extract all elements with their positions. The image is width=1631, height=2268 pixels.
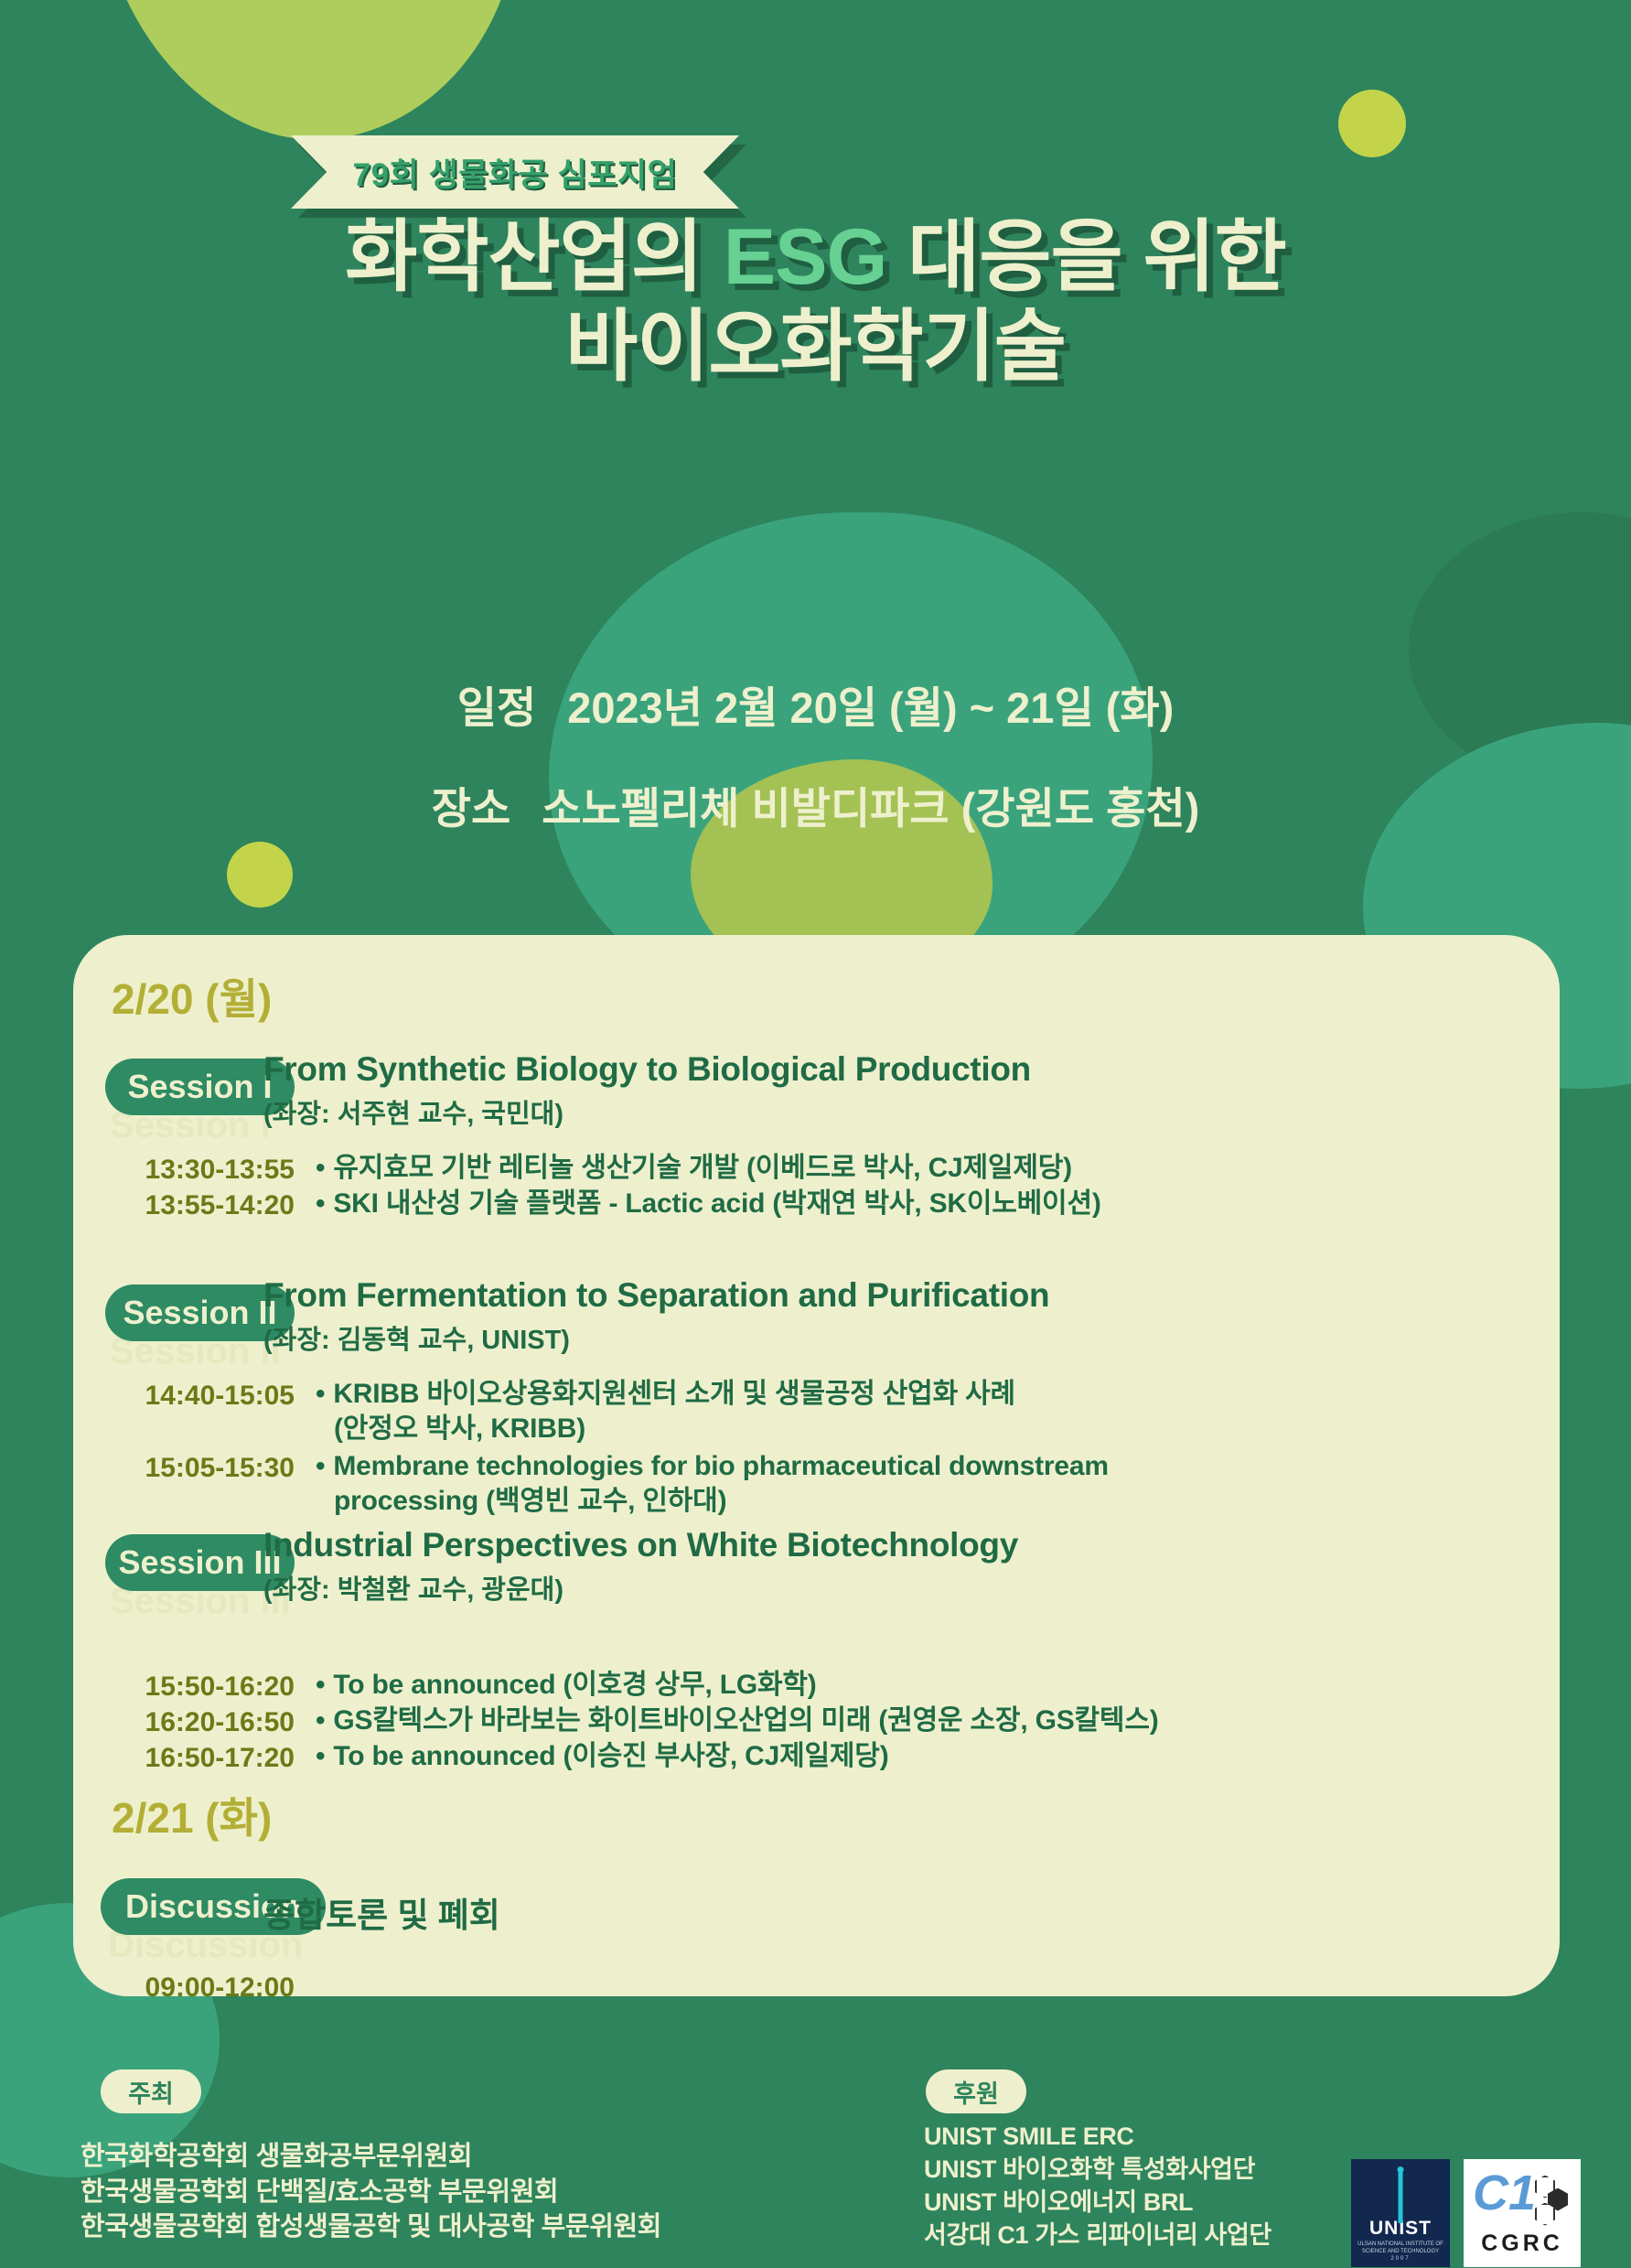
day2-heading: 2/21 (화)	[112, 1785, 272, 1845]
session-3-item-2-time: 16:20-16:50	[102, 1707, 295, 1738]
session-2-item-1-text: KRIBB 바이오상용화지원센터 소개 및 생물공정 산업화 사례	[333, 1379, 1015, 1409]
unist-logo: UNIST ULSAN NATIONAL INSTITUTE OF SCIENC…	[1351, 2159, 1450, 2267]
place-value: 소노펠리체 비발디파크 (강원도 홍천)	[542, 784, 1199, 833]
sponsor-organizations: UNIST SMILE ERC UNIST 바이오화학 특성화사업단 UNIST…	[924, 2121, 1272, 2252]
event-place-row: 장소소노펠리체 비발디파크 (강원도 홍천)	[0, 773, 1631, 836]
day1-heading: 2/20 (월)	[112, 966, 272, 1027]
session-1-title: From Synthetic Biology to Biological Pro…	[263, 1050, 1031, 1089]
cgrc-c1-text: C1	[1473, 2168, 1536, 2218]
session-1-item-1-text: 유지효모 기반 레티놀 생산기술 개발 (이베드로 박사, CJ제일제당)	[333, 1153, 1072, 1183]
title-line2: 바이오화학기술	[0, 302, 1631, 392]
date-value: 2023년 2월 20일 (월) ~ 21일 (화)	[567, 683, 1174, 732]
discussion-label: 종합토론 및 폐회	[263, 1887, 500, 1937]
session-1-item-2-text: SKI 내산성 기술 플랫폼 - Lactic acid (박재연 박사, SK…	[333, 1188, 1100, 1219]
session-2-chair: (좌장: 김동혁 교수, UNIST)	[263, 1318, 570, 1357]
unist-subtitle: ULSAN NATIONAL INSTITUTE OF SCIENCE AND …	[1351, 2241, 1450, 2255]
session-1-item-1: •유지효모 기반 레티놀 생산기술 개발 (이베드로 박사, CJ제일제당)	[316, 1151, 1072, 1186]
session-1-item-2-time: 13:55-14:20	[102, 1190, 295, 1221]
session-2-item-2-cont: processing (백영빈 교수, 인하대)	[316, 1484, 1109, 1519]
ribbon-label: 79회 생물화공 심포지엄	[353, 149, 678, 196]
sponsor-badge: 후원	[926, 2069, 1026, 2113]
ribbon-banner: 79회 생물화공 심포지엄	[291, 135, 739, 209]
bullet-icon: •	[316, 1705, 325, 1736]
session-3-title: Industrial Perspectives on White Biotech…	[263, 1526, 1018, 1564]
cgrc-wordmark: CGRC	[1481, 2230, 1563, 2257]
session-3-chair: (좌장: 박철환 교수, 광운대)	[263, 1568, 563, 1607]
session-3-item-3: •To be announced (이승진 부사장, CJ제일제당)	[316, 1739, 889, 1774]
session-3-item-3-text: To be announced (이승진 부사장, CJ제일제당)	[333, 1741, 888, 1771]
ribbon-body: 79회 생물화공 심포지엄	[291, 135, 739, 209]
decor-dot-left	[227, 842, 293, 908]
unist-tower-icon	[1399, 2172, 1403, 2223]
bullet-icon: •	[316, 1153, 325, 1183]
session-3-item-1-text: To be announced (이호경 상무, LG화학)	[333, 1670, 816, 1700]
session-2-item-1-time: 14:40-15:05	[102, 1381, 295, 1412]
bullet-icon: •	[316, 1379, 325, 1409]
session-3-item-1-time: 15:50-16:20	[102, 1671, 295, 1703]
bullet-icon: •	[316, 1188, 325, 1219]
cgrc-logo: C1 CGRC	[1464, 2159, 1581, 2267]
bullet-icon: •	[316, 1451, 325, 1481]
unist-year: 2007	[1390, 2256, 1410, 2262]
title-esg: ESG	[724, 213, 887, 301]
bullet-icon: •	[316, 1670, 325, 1700]
host-badge: 주최	[101, 2069, 201, 2113]
session-2-item-1: •KRIBB 바이오상용화지원센터 소개 및 생물공정 산업화 사례(안정오 박…	[316, 1377, 1015, 1446]
session-1-item-2: •SKI 내산성 기술 플랫폼 - Lactic acid (박재연 박사, S…	[316, 1187, 1101, 1221]
title-part-b: 대응을 위한	[886, 213, 1285, 301]
session-1-chair: (좌장: 서주현 교수, 국민대)	[263, 1092, 563, 1131]
place-label: 장소	[432, 784, 510, 833]
session-2-item-2-text: Membrane technologies for bio pharmaceut…	[333, 1451, 1109, 1481]
session-3-item-3-time: 16:50-17:20	[102, 1743, 295, 1774]
title-part-a: 화학산업의	[345, 213, 724, 301]
symposium-poster: 79회 생물화공 심포지엄 화학산업의 ESG 대응을 위한 바이오화학기술 일…	[0, 0, 1631, 2268]
date-label: 일정	[457, 683, 536, 732]
session-2-item-1-cont: (안정오 박사, KRIBB)	[316, 1412, 1015, 1446]
event-date-row: 일정2023년 2월 20일 (월) ~ 21일 (화)	[0, 672, 1631, 736]
session-2-title: From Fermentation to Separation and Puri…	[263, 1276, 1049, 1315]
session-2-item-2-time: 15:05-15:30	[102, 1453, 295, 1484]
session-1-item-1-time: 13:30-13:55	[102, 1155, 295, 1186]
session-3-item-2-text: GS칼텍스가 바라보는 화이트바이오산업의 미래 (권영운 소장, GS칼텍스)	[333, 1705, 1158, 1736]
session-2-item-2: •Membrane technologies for bio pharmaceu…	[316, 1449, 1109, 1519]
session-3-item-1: •To be announced (이호경 상무, LG화학)	[316, 1668, 817, 1703]
bullet-icon: •	[316, 1741, 325, 1771]
session-3-item-2: •GS칼텍스가 바라보는 화이트바이오산업의 미래 (권영운 소장, GS칼텍스…	[316, 1704, 1159, 1738]
cgrc-mark: C1	[1469, 2170, 1575, 2230]
host-organizations: 한국화학공학회 생물화공부문위원회 한국생물공학회 단백질/효소공학 부문위원회…	[80, 2139, 661, 2245]
decor-dot-top-right	[1338, 90, 1406, 157]
page-title: 화학산업의 ESG 대응을 위한 바이오화학기술	[0, 212, 1631, 392]
discussion-time: 09:00-12:00	[102, 1972, 295, 2004]
